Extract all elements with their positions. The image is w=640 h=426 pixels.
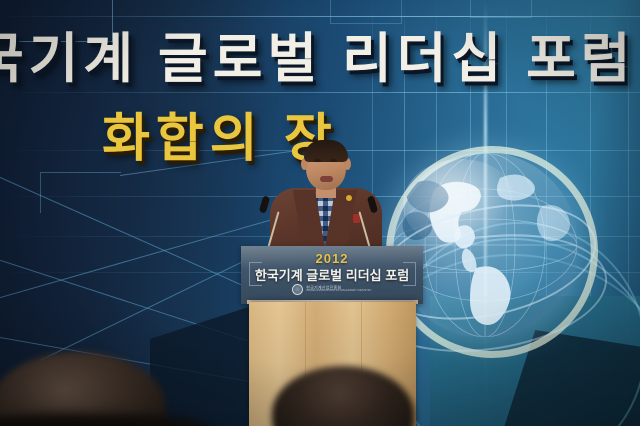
speaker-eye-left (314, 159, 321, 162)
podium-sign-title: 한국기계 글로벌 리더십 포럼 (241, 265, 423, 284)
lapel-pin-icon (346, 195, 352, 201)
logo-emblem-icon (292, 284, 303, 295)
banner-headline: 국기계 글로벌 리더십 포럼 (0, 14, 640, 93)
speaker-mouth (320, 176, 333, 182)
logo-text-block: 한국기계산업진흥회 KOREA ASSOCIATION OF MACHINERY… (306, 286, 371, 294)
decor-rectangle (40, 172, 121, 213)
speaker-hair (304, 140, 348, 162)
logo-text-english: KOREA ASSOCIATION OF MACHINERY INDUSTRY (306, 290, 371, 293)
organization-logo: 한국기계산업진흥회 KOREA ASSOCIATION OF MACHINERY… (241, 284, 423, 295)
photo-scene: 국기계 글로벌 리더십 포럼 화합의 장 2012 한국기계 글로벌 리더십 포… (0, 0, 640, 426)
podium-sign-year: 2012 (241, 251, 423, 266)
podium-sign: 2012 한국기계 글로벌 리더십 포럼 한국기계산업진흥회 KOREA ASS… (241, 246, 423, 304)
speaker-eye-right (330, 159, 337, 162)
globe-graphic (392, 152, 578, 338)
